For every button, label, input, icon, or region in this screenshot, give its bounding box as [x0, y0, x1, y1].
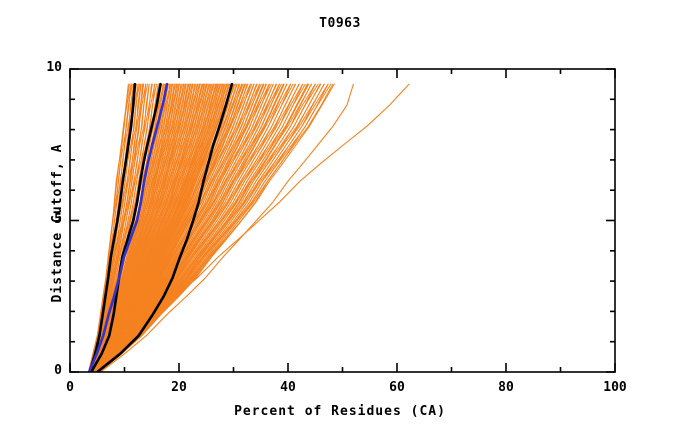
x-tick-label: 100	[585, 380, 645, 395]
x-tick-label: 40	[258, 380, 318, 395]
x-tick-label: 20	[149, 380, 209, 395]
y-tick-label: 10	[22, 60, 62, 75]
plot-canvas	[0, 0, 680, 440]
chart-figure: T0963 Percent of Residues (CA) Distance …	[0, 0, 680, 440]
y-tick-label: 5	[22, 212, 62, 227]
x-tick-label: 60	[367, 380, 427, 395]
x-tick-label: 0	[40, 380, 100, 395]
x-tick-label: 80	[476, 380, 536, 395]
y-tick-label: 0	[22, 363, 62, 378]
ensemble-curves-layer	[89, 84, 409, 372]
